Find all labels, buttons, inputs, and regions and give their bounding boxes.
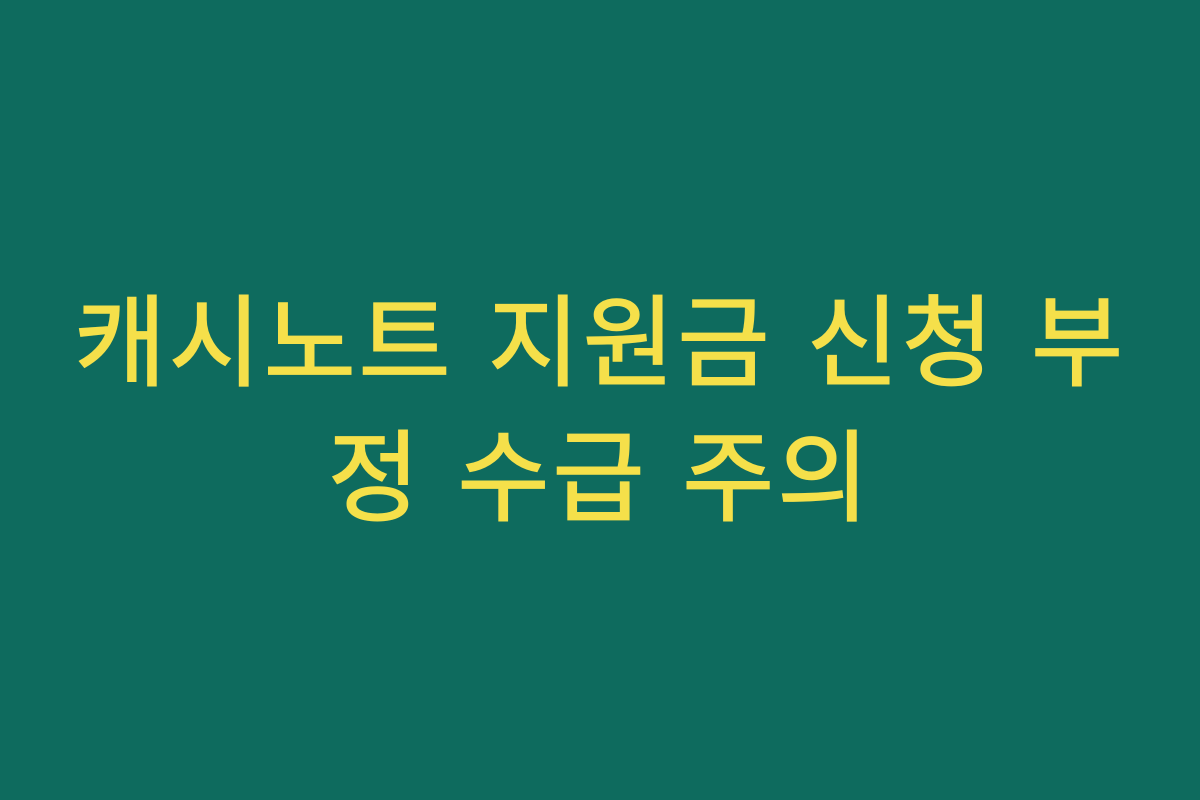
headline-block: 캐시노트 지원금 신청 부 정 수급 주의 [70, 276, 1130, 546]
headline-line-2: 정 수급 주의 [70, 411, 1130, 546]
headline-line-1: 캐시노트 지원금 신청 부 [70, 276, 1130, 411]
banner-canvas: 캐시노트 지원금 신청 부 정 수급 주의 [0, 0, 1200, 800]
